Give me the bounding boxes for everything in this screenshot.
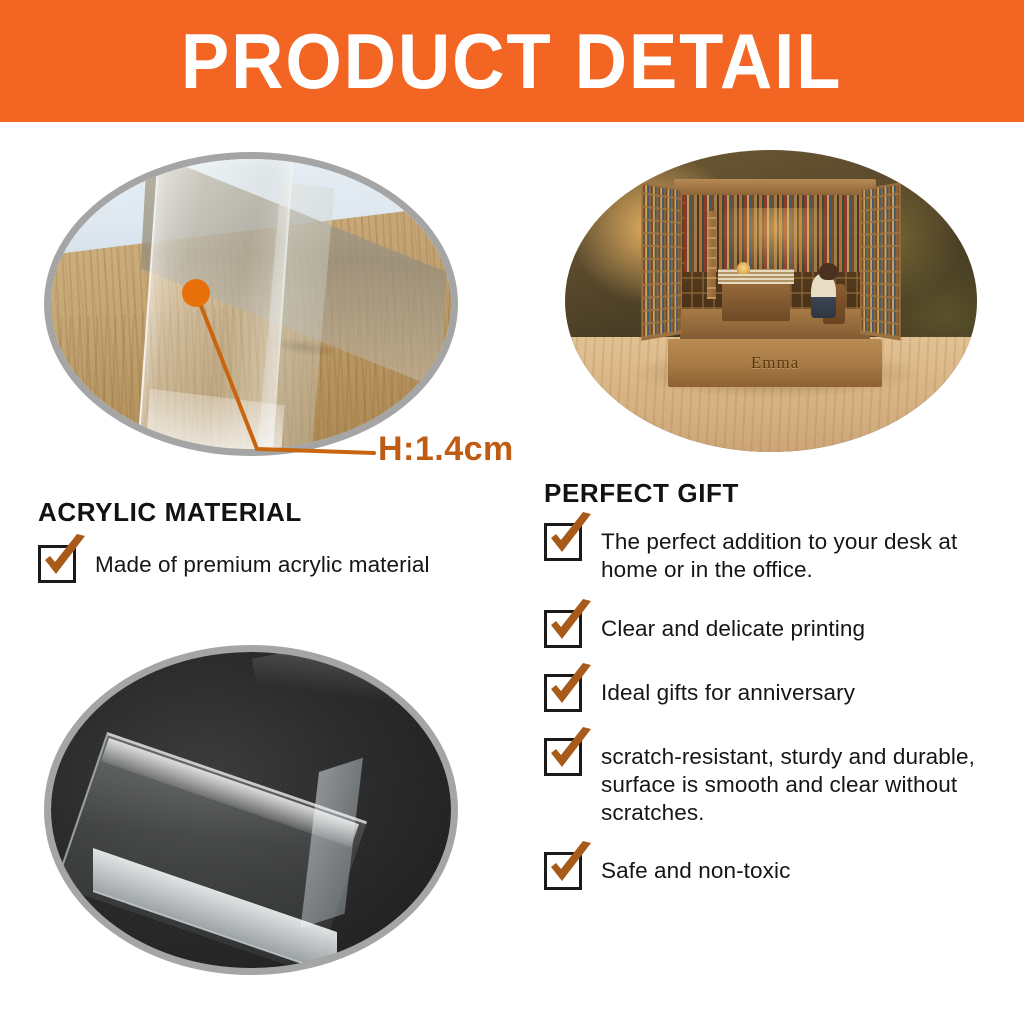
desk-lamp: [737, 262, 750, 275]
checkmark-icon: [545, 727, 597, 779]
left-cabinet-door: [641, 183, 682, 341]
height-label: H:1.4cm: [378, 430, 514, 469]
right-cabinet-door: [860, 183, 901, 341]
list-item-label: scratch-resistant, sturdy and durable, s…: [601, 738, 1004, 827]
checkbox[interactable]: [544, 610, 582, 648]
library-interior: [680, 186, 870, 343]
list-item-label: Ideal gifts for anniversary: [601, 674, 855, 707]
desk: [722, 280, 790, 321]
feature-list-perfect-gift: The perfect addition to your desk at hom…: [544, 523, 1004, 916]
list-item: The perfect addition to your desk at hom…: [544, 523, 1004, 584]
reader-figure: [811, 274, 836, 318]
engraved-name: Emma: [751, 353, 799, 373]
list-item: scratch-resistant, sturdy and durable, s…: [544, 738, 1004, 827]
acrylic-block-photo: [44, 645, 458, 975]
list-item-label: The perfect addition to your desk at hom…: [601, 523, 1004, 584]
list-item: Made of premium acrylic material: [38, 545, 508, 583]
reader-hair: [819, 263, 838, 280]
checkbox[interactable]: [544, 674, 582, 712]
warm-light-glow: [718, 208, 832, 274]
checkbox[interactable]: [544, 738, 582, 776]
list-item: Safe and non-toxic: [544, 852, 1004, 890]
acrylic-edge-photo: [44, 152, 458, 456]
header-banner: PRODUCT DETAIL: [0, 0, 1024, 122]
section-heading-perfect-gift: PERFECT GIFT: [544, 478, 739, 509]
checkmark-icon: [545, 663, 597, 715]
list-item: Clear and delicate printing: [544, 610, 1004, 648]
section-heading-acrylic-material: ACRYLIC MATERIAL: [38, 497, 302, 528]
acrylic-edge-photo-content: [51, 159, 451, 449]
list-item-label: Safe and non-toxic: [601, 852, 790, 885]
list-item-label: Clear and delicate printing: [601, 610, 865, 643]
engraved-wooden-base: Emma: [668, 339, 882, 387]
checkmark-icon: [545, 512, 597, 564]
list-item: Ideal gifts for anniversary: [544, 674, 1004, 712]
feature-list-acrylic-material: Made of premium acrylic material: [38, 545, 508, 583]
cabinet-cornice: [674, 179, 876, 196]
library-ladder: [707, 211, 716, 299]
page-title: PRODUCT DETAIL: [181, 22, 842, 100]
checkbox[interactable]: [38, 545, 76, 583]
list-item-label: Made of premium acrylic material: [95, 545, 430, 579]
book-nook-photo: Emma: [565, 150, 977, 452]
checkmark-icon: [545, 599, 597, 651]
books-on-desk: [718, 269, 794, 283]
checkmark-icon: [545, 841, 597, 893]
checkbox[interactable]: [544, 523, 582, 561]
checkbox[interactable]: [544, 852, 582, 890]
checkmark-icon: [39, 534, 91, 586]
